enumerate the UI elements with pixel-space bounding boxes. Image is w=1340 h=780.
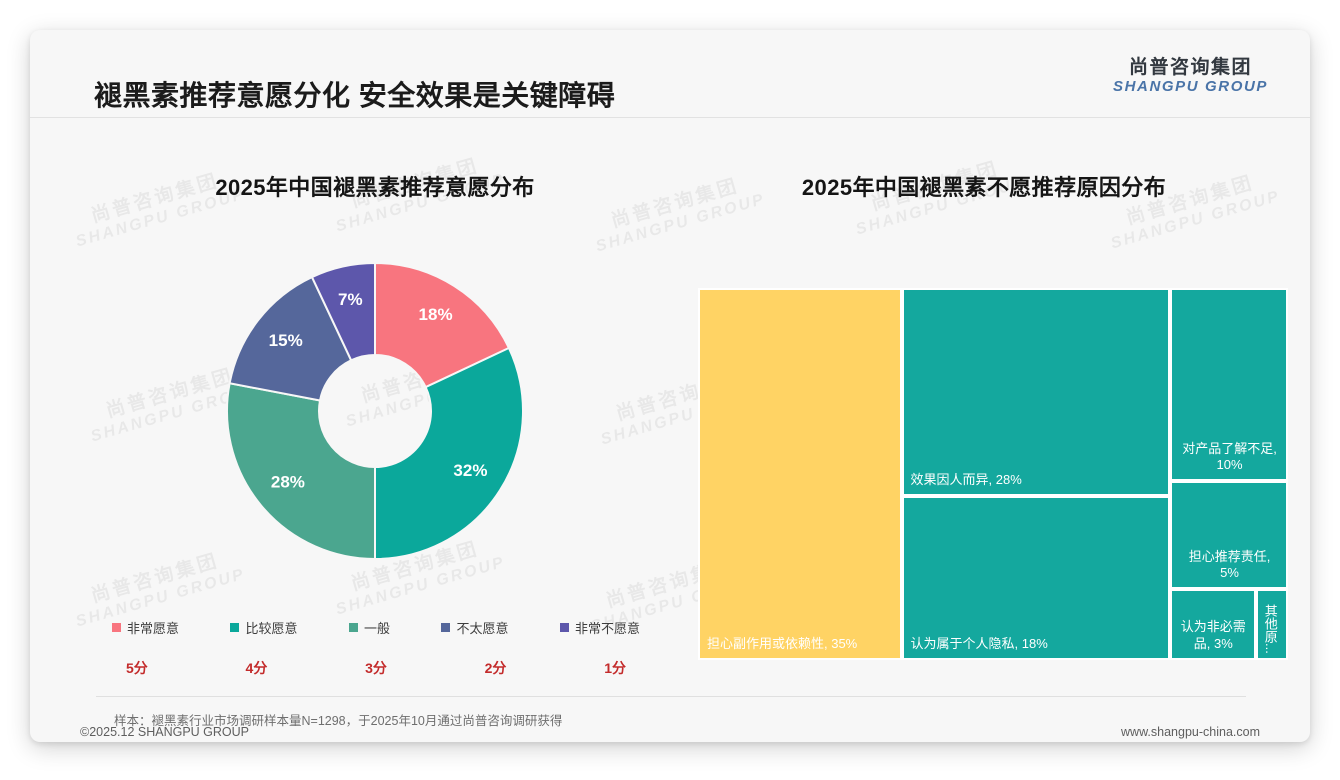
brand-logo: 尚普咨询集团 SHANGPU GROUP xyxy=(1113,58,1268,95)
donut-slice-label-3: 28% xyxy=(271,473,305,492)
chart-panel-reasons: 2025年中国褪黑素不愿推荐原因分布 担心副作用或依赖性, 35%效果因人而异,… xyxy=(680,170,1288,690)
legend-label: 比较愿意 xyxy=(245,618,297,637)
legend-item-5[interactable]: 非常不愿意 xyxy=(560,618,640,637)
legend-label: 一般 xyxy=(364,618,390,637)
treemap-cell-7[interactable]: 其他原... xyxy=(1256,589,1288,660)
donut-slice-label-4: 15% xyxy=(269,331,303,350)
score-label-row: 5分4分3分2分1分 xyxy=(100,658,652,678)
donut-slice-3[interactable] xyxy=(227,383,375,559)
website-link[interactable]: www.shangpu-china.com xyxy=(1121,725,1260,739)
legend-item-3[interactable]: 一般 xyxy=(349,618,390,637)
legend-swatch-icon xyxy=(349,623,358,632)
page-title: 褪黑素推荐意愿分化 安全效果是关键障碍 xyxy=(94,74,615,114)
sample-footnote: 样本：褪黑素行业市场调研样本量N=1298，于2025年10月通过尚普咨询调研获… xyxy=(114,710,562,729)
score-label-2: 4分 xyxy=(246,658,268,678)
chart-title-reasons: 2025年中国褪黑素不愿推荐原因分布 xyxy=(680,170,1288,202)
treemap-cell-6[interactable]: 认为非必需品, 3% xyxy=(1170,589,1256,660)
treemap-cell-label-2: 效果因人而异, 28% xyxy=(911,472,1162,488)
treemap-cell-label-1: 担心副作用或依赖性, 35% xyxy=(707,636,894,652)
donut-slice-label-1: 18% xyxy=(419,305,453,324)
treemap-cell-1[interactable]: 担心副作用或依赖性, 35% xyxy=(698,288,902,660)
donut-slice-label-2: 32% xyxy=(453,461,487,480)
legend-label: 不太愿意 xyxy=(456,618,508,637)
donut-slice-2[interactable] xyxy=(375,348,523,559)
score-label-1: 5分 xyxy=(126,658,148,678)
score-label-5: 1分 xyxy=(604,658,626,678)
legend-swatch-icon xyxy=(441,623,450,632)
score-label-4: 2分 xyxy=(485,658,507,678)
legend-item-4[interactable]: 不太愿意 xyxy=(441,618,508,637)
treemap-cell-label-4: 对产品了解不足, 10% xyxy=(1179,441,1280,474)
chart-legend: 非常愿意比较愿意一般不太愿意非常不愿意 xyxy=(100,618,652,637)
treemap-cell-4[interactable]: 对产品了解不足, 10% xyxy=(1170,288,1288,481)
legend-item-2[interactable]: 比较愿意 xyxy=(230,618,297,637)
legend-label: 非常愿意 xyxy=(127,618,179,637)
treemap-cell-2[interactable]: 效果因人而异, 28% xyxy=(902,288,1170,496)
donut-chart-svg: 18%32%28%15%7% xyxy=(159,242,591,580)
treemap-cell-5[interactable]: 担心推荐责任, 5% xyxy=(1170,481,1288,589)
score-label-3: 3分 xyxy=(365,658,387,678)
slide-page: 褪黑素推荐意愿分化 安全效果是关键障碍 尚普咨询集团 SHANGPU GROUP… xyxy=(0,0,1340,780)
treemap-cell-label-3: 认为属于个人隐私, 18% xyxy=(911,636,1162,652)
slide-header: 褪黑素推荐意愿分化 安全效果是关键障碍 尚普咨询集团 SHANGPU GROUP xyxy=(30,30,1310,118)
donut-slice-label-5: 7% xyxy=(338,290,363,309)
logo-english-text: SHANGPU GROUP xyxy=(1113,79,1268,95)
treemap-cell-label-5: 担心推荐责任, 5% xyxy=(1179,549,1280,582)
legend-label: 非常不愿意 xyxy=(575,618,640,637)
chart-title-willingness: 2025年中国褪黑素推荐意愿分布 xyxy=(92,170,658,202)
chart-panel-willingness: 2025年中国褪黑素推荐意愿分布 18%32%28%15%7% 非常愿意比较愿意… xyxy=(92,170,658,690)
logo-chinese-text: 尚普咨询集团 xyxy=(1113,58,1268,79)
treemap-cell-label-6: 认为非必需品, 3% xyxy=(1179,619,1248,652)
donut-chart: 18%32%28%15%7% xyxy=(159,242,591,580)
slide-card: 褪黑素推荐意愿分化 安全效果是关键障碍 尚普咨询集团 SHANGPU GROUP… xyxy=(30,30,1310,742)
treemap-cell-3[interactable]: 认为属于个人隐私, 18% xyxy=(902,496,1170,660)
footnote-divider xyxy=(96,696,1246,697)
legend-swatch-icon xyxy=(230,623,239,632)
legend-swatch-icon xyxy=(560,623,569,632)
legend-item-1[interactable]: 非常愿意 xyxy=(112,618,179,637)
legend-swatch-icon xyxy=(112,623,121,632)
treemap-chart: 担心副作用或依赖性, 35%效果因人而异, 28%认为属于个人隐私, 18%对产… xyxy=(698,288,1288,660)
treemap-cell-label-7: 其他原... xyxy=(1262,604,1278,654)
donut-slices[interactable] xyxy=(227,263,523,559)
